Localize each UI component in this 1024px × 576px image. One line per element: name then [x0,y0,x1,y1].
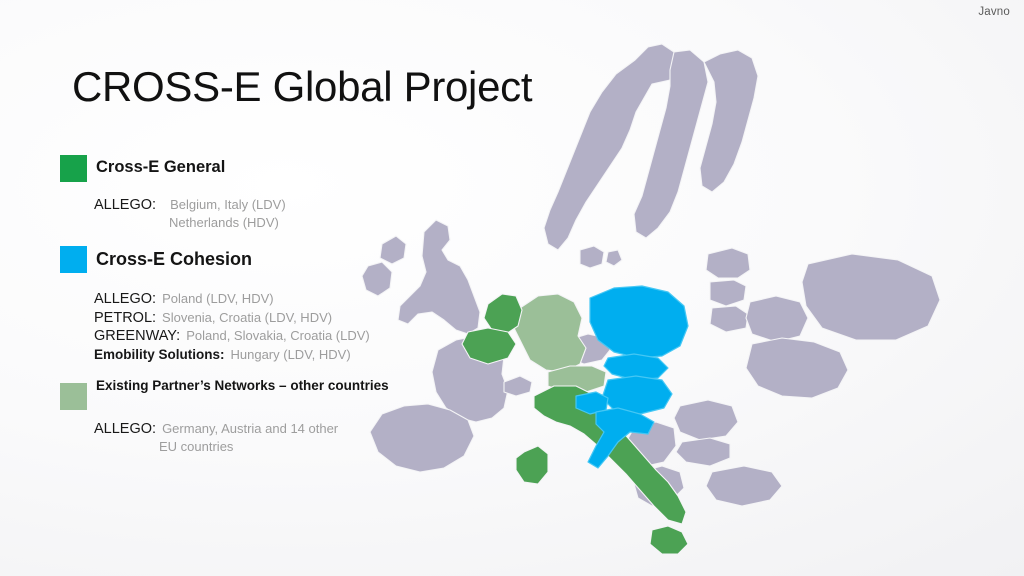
legend-row: Emobility Solutions: Hungary (LDV, HDV) [94,346,370,364]
legend-swatch-cohesion [60,246,87,273]
legend-swatch-partner-networks [60,383,87,410]
legend-swatch-general [60,155,87,182]
legend-company: GREENWAY: [94,327,180,346]
legend-row: ALLEGO: Poland (LDV, HDV) [94,290,370,309]
map-country-united-kingdom [380,220,480,334]
legend-company: PETROL: [94,309,156,328]
legend-row: ALLEGO: Germany, Austria and 14 other [94,420,338,439]
map-country-turkey-west [706,466,782,506]
map-country-romania [674,400,738,440]
legend-row: ALLEGO: Belgium, Italy (LDV) [94,196,286,215]
legend-countries: Belgium, Italy (LDV) [156,197,286,214]
map-country-switzerland [504,376,532,396]
map-country-belgium [462,328,516,364]
legend-heading-partner-networks: Existing Partner’s Networks – other coun… [96,378,389,393]
map-country-denmark [580,246,622,268]
legend-company: ALLEGO: [94,290,156,309]
legend-countries: Slovenia, Croatia (LDV, HDV) [156,310,332,327]
legend-countries: Poland (LDV, HDV) [156,291,274,308]
legend-rows-cohesion: ALLEGO: Poland (LDV, HDV) PETROL: Sloven… [94,290,370,363]
legend-row: PETROL: Slovenia, Croatia (LDV, HDV) [94,309,370,328]
legend-company: ALLEGO: [94,420,156,439]
legend-countries: Germany, Austria and 14 other [156,421,338,438]
map-country-belarus [746,296,808,342]
legend-company: ALLEGO: [94,196,156,215]
legend-rows-partner-networks: ALLEGO: Germany, Austria and 14 other EU… [94,420,338,455]
map-country-spain-portugal [370,404,474,472]
legend-countries: Poland, Slovakia, Croatia (LDV) [180,328,370,345]
legend-heading-cohesion: Cross-E Cohesion [96,249,252,270]
europe-map [352,14,1024,566]
map-country-russia-east [802,254,940,340]
legend-company: Emobility Solutions: [94,346,225,363]
legend-countries-continuation: EU countries [94,439,338,456]
map-country-ireland [362,262,392,296]
legend-countries: Hungary (LDV, HDV) [225,347,351,364]
legend-rows-general: ALLEGO: Belgium, Italy (LDV) Netherlands… [94,196,286,231]
map-country-finland [700,50,758,192]
map-country-bulgaria [676,438,730,466]
legend-heading-general: Cross-E General [96,158,225,177]
legend-countries-continuation: Netherlands (HDV) [94,215,286,232]
map-country-baltics [706,248,750,332]
map-country-germany [514,294,586,372]
legend-row: GREENWAY: Poland, Slovakia, Croatia (LDV… [94,327,370,346]
map-country-ukraine [746,338,848,398]
map-country-hungary [602,376,672,414]
